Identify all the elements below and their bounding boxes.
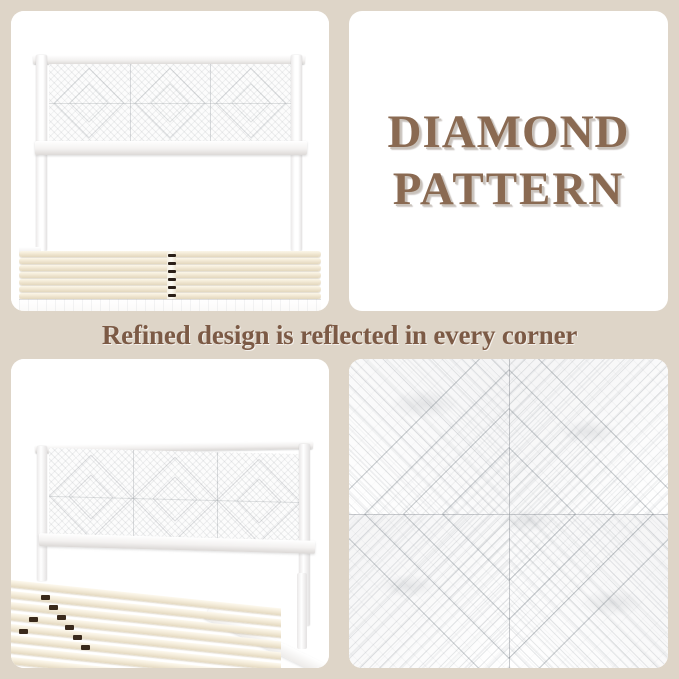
slat-bracket [168, 294, 176, 297]
slat-deck-angled [11, 577, 281, 668]
bed-leg-right [297, 573, 307, 649]
bed-base-panel [19, 299, 321, 311]
slat-bracket [49, 605, 58, 610]
slat-bracket [168, 278, 176, 281]
diamond-pattern-macro [349, 359, 668, 668]
headline-line-1: DIAMOND [388, 107, 630, 158]
slat-bracket [19, 629, 28, 634]
panel-bed-front-view[interactable] [11, 11, 329, 311]
slat-bracket [57, 615, 66, 620]
wood-grain-mark [499, 509, 555, 533]
product-collage: DIAMOND PATTERN Refined design is reflec… [0, 0, 679, 679]
slat-bracket [168, 286, 176, 289]
slat-bracket [168, 270, 176, 273]
slat-bracket [41, 595, 50, 600]
caption-text: Refined design is reflected in every cor… [102, 322, 577, 349]
wood-grain-mark [389, 389, 459, 419]
caption-band: Refined design is reflected in every cor… [0, 313, 679, 357]
wood-grain-mark [559, 419, 619, 445]
slat-bracket [168, 262, 176, 265]
panel-headline[interactable]: DIAMOND PATTERN [349, 11, 668, 311]
headboard-seam [49, 103, 291, 104]
wood-grain-mark [579, 589, 645, 617]
slat-bracket [29, 617, 38, 622]
headline-line-2: PATTERN [393, 164, 625, 215]
bed-front-illustration [11, 11, 329, 311]
panel-diamond-closeup[interactable] [349, 359, 668, 668]
slat-bracket [168, 254, 176, 257]
headboard-diamond-panel [49, 64, 291, 142]
slat-bracket [73, 635, 82, 640]
panel-bed-angled-view[interactable] [11, 359, 329, 668]
wood-grain-mark [379, 574, 437, 598]
bed-angled-illustration [11, 359, 329, 668]
headline-block: DIAMOND PATTERN [349, 11, 668, 311]
headboard-bottom-rail [35, 141, 307, 155]
headboard-post-left-angled [37, 446, 47, 581]
headboard-top-rail [33, 55, 305, 64]
slat-bracket [65, 625, 74, 630]
slat-bracket [81, 645, 90, 650]
center-support-rail-angled [19, 577, 111, 668]
